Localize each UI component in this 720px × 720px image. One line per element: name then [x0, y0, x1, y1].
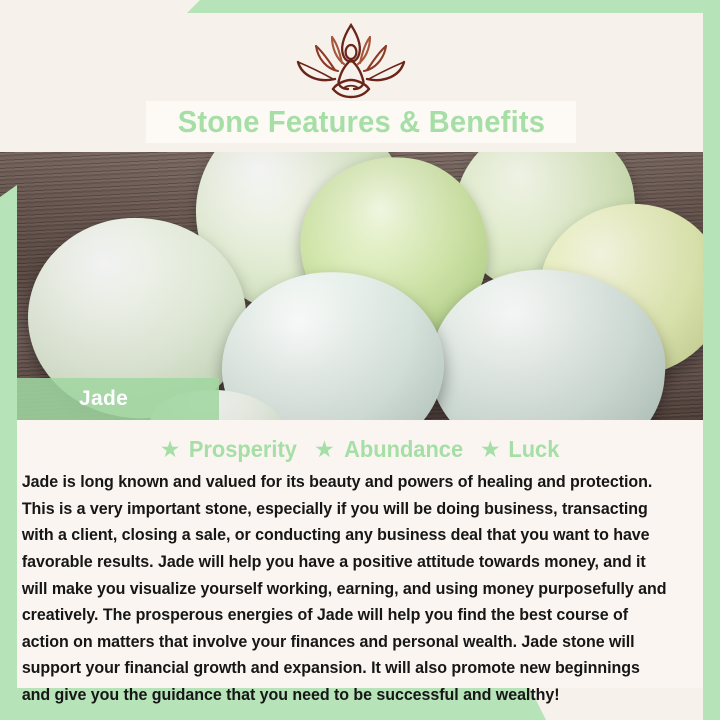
stone-name-banner: Jade [17, 378, 219, 420]
right-accent-strip [703, 13, 720, 720]
benefit-item: ★ Abundance [314, 436, 466, 463]
stone-description: Jade is long known and valued for its be… [17, 469, 679, 709]
benefit-item: ★ Luck [480, 436, 560, 463]
infographic-page: BUDDHA STONES Stone Features & Benefits … [0, 0, 720, 720]
star-icon: ★ [314, 438, 335, 461]
star-icon: ★ [480, 438, 501, 461]
benefit-label: Prosperity [189, 436, 297, 463]
left-accent-strip [0, 185, 17, 720]
stone-name-label: Jade [17, 387, 128, 411]
benefit-label: Abundance [344, 436, 463, 463]
lotus-meditation-icon [280, 19, 422, 99]
benefits-list: ★ Prosperity ★ Abundance ★ Luck [17, 431, 703, 467]
benefit-item: ★ Prosperity [160, 436, 300, 463]
title-banner: Stone Features & Benefits [146, 101, 576, 143]
content-panel: ★ Prosperity ★ Abundance ★ Luck Jade is … [17, 420, 703, 688]
benefit-label: Luck [508, 436, 559, 463]
page-title: Stone Features & Benefits [177, 104, 544, 140]
star-icon: ★ [160, 438, 181, 461]
